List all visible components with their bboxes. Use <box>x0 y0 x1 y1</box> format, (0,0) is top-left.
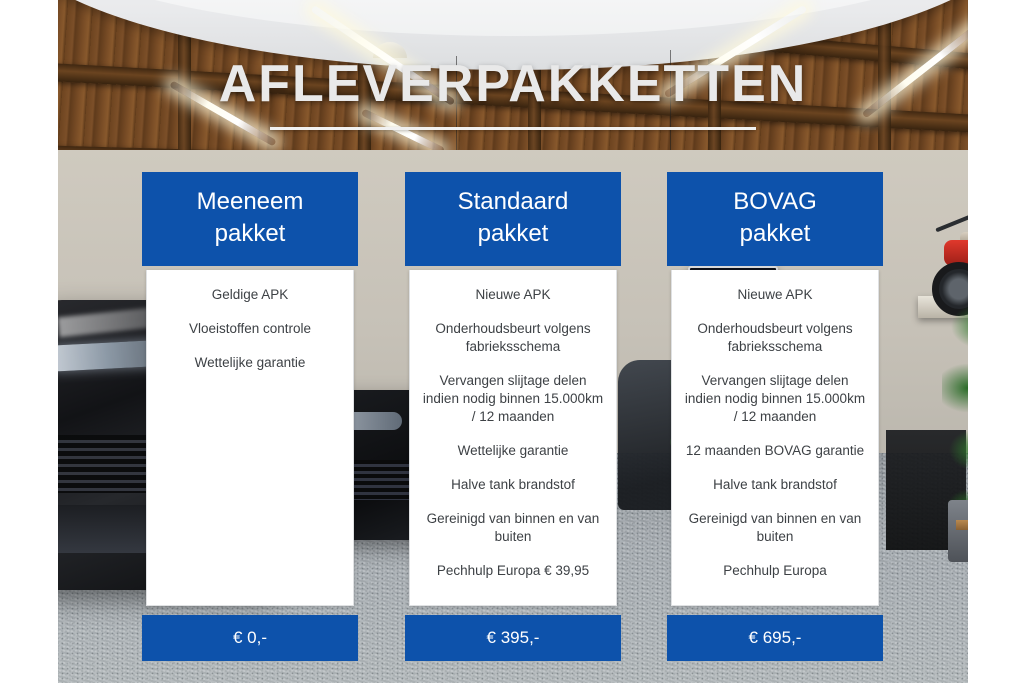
feature-item: Nieuwe APK <box>420 286 606 304</box>
package-card-standaard[interactable]: Standaard pakket Nieuwe APK Onderhoudsbe… <box>405 172 621 606</box>
package-card-bovag[interactable]: BOVAG pakket Nieuwe APK Onderhoudsbeurt … <box>667 172 883 606</box>
package-name-line1: Meeneem <box>150 186 350 218</box>
package-price[interactable]: € 0,- <box>142 615 358 661</box>
feature-item: Pechhulp Europa <box>682 562 868 580</box>
feature-item: Nieuwe APK <box>682 286 868 304</box>
feature-item: Halve tank brandstof <box>420 476 606 494</box>
slide-canvas: AFLEVERPAKKETTEN Meeneem pakket Geldige … <box>0 0 1024 683</box>
package-feature-list: Geldige APK Vloeistoffen controle Wettel… <box>146 270 354 606</box>
package-price[interactable]: € 695,- <box>667 615 883 661</box>
package-feature-list: Nieuwe APK Onderhoudsbeurt volgens fabri… <box>671 270 879 606</box>
package-name-line2: pakket <box>675 218 875 250</box>
package-feature-list: Nieuwe APK Onderhoudsbeurt volgens fabri… <box>409 270 617 606</box>
feature-item: Gereinigd van binnen en van buiten <box>420 510 606 546</box>
package-header: Meeneem pakket <box>142 172 358 266</box>
feature-item: Gereinigd van binnen en van buiten <box>682 510 868 546</box>
pricing-cards: Meeneem pakket Geldige APK Vloeistoffen … <box>0 0 1024 683</box>
feature-item: Wettelijke garantie <box>157 354 343 372</box>
feature-item: Pechhulp Europa € 39,95 <box>420 562 606 580</box>
package-name-line1: Standaard <box>413 186 613 218</box>
package-price[interactable]: € 395,- <box>405 615 621 661</box>
package-card-meeneem[interactable]: Meeneem pakket Geldige APK Vloeistoffen … <box>142 172 358 606</box>
feature-item: Wettelijke garantie <box>420 442 606 460</box>
package-name-line2: pakket <box>413 218 613 250</box>
feature-item: Onderhoudsbeurt volgens fabrieksschema <box>420 320 606 356</box>
package-header: Standaard pakket <box>405 172 621 266</box>
package-name-line2: pakket <box>150 218 350 250</box>
feature-item: Vloeistoffen controle <box>157 320 343 338</box>
feature-item: Onderhoudsbeurt volgens fabrieksschema <box>682 320 868 356</box>
feature-item: Vervangen slijtage delen indien nodig bi… <box>682 372 868 426</box>
feature-item: 12 maanden BOVAG garantie <box>682 442 868 460</box>
package-name-line1: BOVAG <box>675 186 875 218</box>
feature-item: Halve tank brandstof <box>682 476 868 494</box>
feature-item: Geldige APK <box>157 286 343 304</box>
feature-item: Vervangen slijtage delen indien nodig bi… <box>420 372 606 426</box>
package-header: BOVAG pakket <box>667 172 883 266</box>
